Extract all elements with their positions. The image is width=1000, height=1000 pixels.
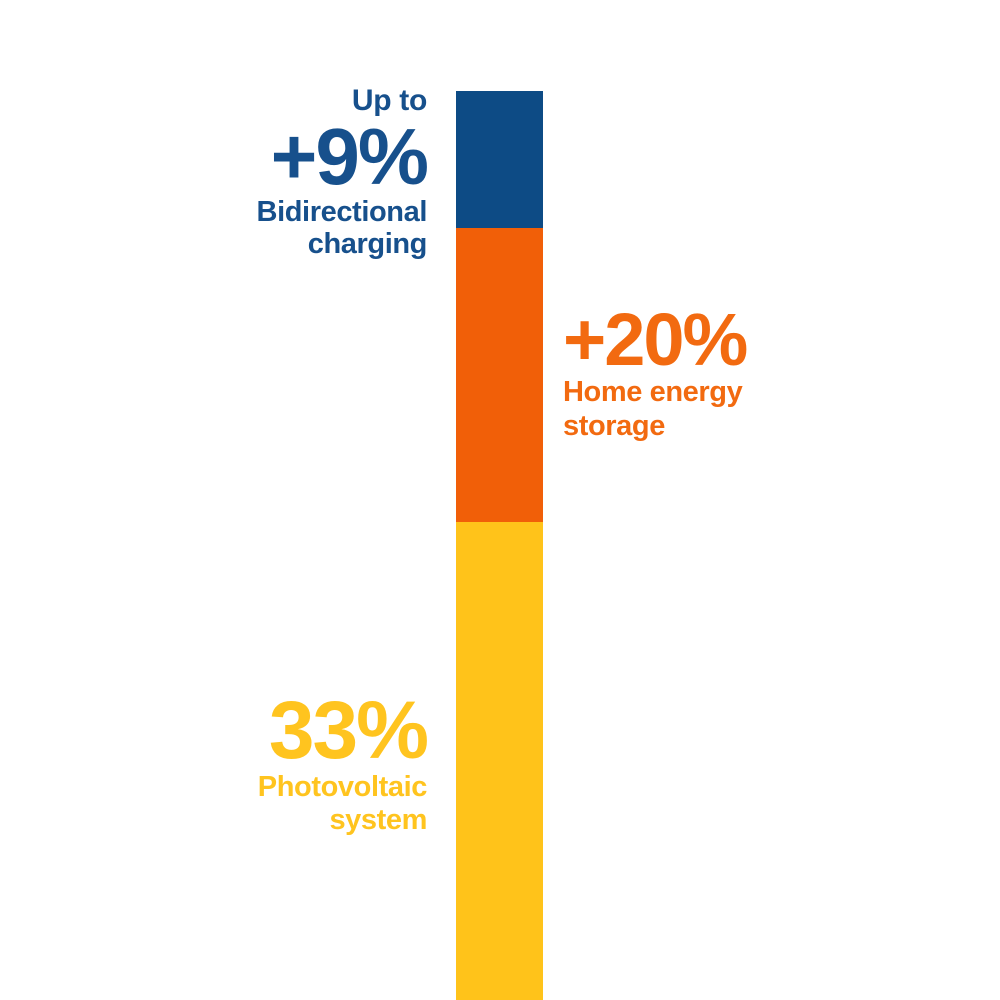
annotation-caption-photovoltaic-line1: Photovoltaic — [258, 771, 427, 803]
stacked-bar — [456, 91, 543, 1000]
annotation-home-energy-storage: +20% Home energystorage — [563, 303, 963, 443]
stacked-bar-infographic: Up to +9% Bidirectionalcharging +20% Hom… — [0, 0, 1000, 1000]
bar-segment-bidirectional-charging — [456, 91, 543, 228]
annotation-caption-photovoltaic: Photovoltaicsystem — [120, 771, 427, 838]
bar-segment-home-energy-storage — [456, 228, 543, 522]
annotation-caption-home-energy: Home energystorage — [563, 376, 963, 443]
annotation-photovoltaic-system: 33% Photovoltaicsystem — [120, 690, 427, 838]
annotation-caption-bidirectional-line1: Bidirectional — [257, 196, 427, 228]
annotation-bidirectional-charging: Up to +9% Bidirectionalcharging — [120, 85, 427, 260]
annotation-caption-home-energy-line1: Home energy — [563, 376, 742, 408]
annotation-value-home-energy: +20% — [563, 305, 963, 375]
annotation-caption-photovoltaic-line2: system — [329, 804, 427, 836]
bar-segment-photovoltaic-system — [456, 522, 543, 1000]
annotation-caption-home-energy-line2: storage — [563, 410, 665, 442]
annotation-value-bidirectional: +9% — [120, 119, 427, 195]
annotation-value-photovoltaic: 33% — [120, 692, 427, 770]
annotation-caption-bidirectional: Bidirectionalcharging — [120, 196, 427, 261]
annotation-caption-bidirectional-line2: charging — [308, 228, 427, 260]
